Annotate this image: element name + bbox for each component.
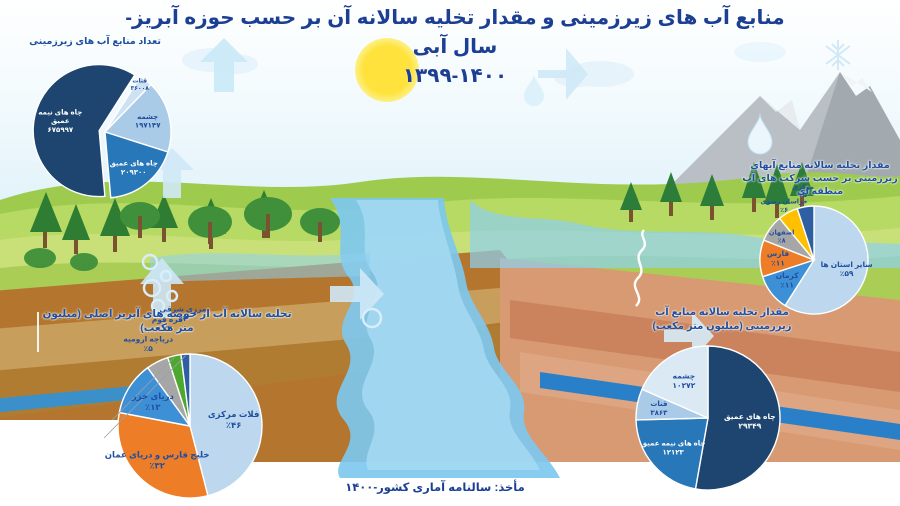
page-title-line-1: منابع آب های زیرزمینی و مقدار تخلیه سالا… — [110, 4, 800, 62]
page-title-line-2: ۱۳۹۹-۱۴۰۰ — [110, 62, 800, 91]
pie-chart-annual-discharge-by-basin[interactable]: فلات مرکزی٪۴۶خلیج فارس و دریای عمان٪۳۲در… — [60, 330, 290, 506]
pie-slice-label: قنات۳۸۶۳ — [650, 401, 668, 417]
source-note: مأخذ: سالنامه آماری کشور-۱۴۰۰ — [330, 480, 540, 494]
snowflake-icon — [826, 40, 850, 70]
pie-slice-label: چشمه۱۹۷۱۴۷ — [135, 114, 161, 130]
pie-slice-label: چشمه۱۰۲۷۲ — [672, 372, 695, 390]
page-title: منابع آب های زیرزمینی و مقدار تخلیه سالا… — [110, 4, 800, 91]
chart-caption-regional: مقدار تخلیه سالانه منابع آبهای زیرزمینی … — [742, 160, 898, 198]
pie-chart-discharge-by-regional-water-company[interactable]: سایر استان ها٪۵۹کرمان٪۱۱فارس٪۱۱اصفهان٪۸خ… — [742, 196, 900, 336]
infographic-canvas: منابع آب های زیرزمینی و مقدار تخلیه سالا… — [0, 0, 900, 506]
pie-chart-groundwater-sources-count[interactable]: چاه های نیمهعمیق۶۷۵۹۹۷قنات۳۶۰۰۸چشمه۱۹۷۱۴… — [10, 52, 200, 212]
pie-slice-label: دریاچه ارومیه٪۵ — [123, 334, 173, 352]
chart-caption-count: تعداد منابع آب های زیرزمینی — [20, 36, 170, 49]
pie-chart-annual-discharge-by-source-type[interactable]: چاه های عمیق۲۹۳۴۹چاه های نیمه عمیق۱۲۱۲۳ق… — [626, 340, 816, 506]
